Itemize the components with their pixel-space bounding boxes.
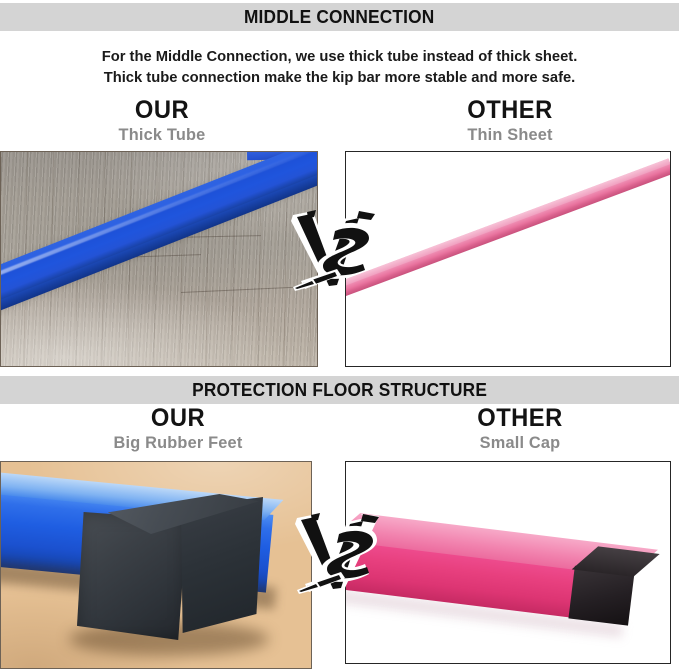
section-title-middle-connection: MIDDLE CONNECTION	[244, 7, 434, 28]
pink-thin-bar-1	[345, 158, 671, 299]
section-header-band-protection-floor: PROTECTION FLOOR STRUCTURE	[0, 376, 679, 404]
intro-paragraph-middle-connection: For the Middle Connection, we use thick …	[10, 46, 669, 88]
photo-our-thick-tube	[0, 151, 318, 367]
vs-badge-icon-1	[283, 209, 379, 293]
caption-sub-thin-sheet: Thin Sheet	[366, 124, 654, 146]
photo-our-big-rubber-feet	[0, 461, 312, 669]
caption-our-thick-tube: OUR Thick Tube	[12, 96, 312, 146]
caption-sub-small-cap: Small Cap	[376, 432, 664, 454]
caption-other-small-cap: OTHER Small Cap	[370, 404, 670, 454]
caption-other-thin-sheet: OTHER Thin Sheet	[360, 96, 660, 146]
pink-bar-2	[345, 514, 644, 623]
section-header-band-middle-connection: MIDDLE CONNECTION	[0, 3, 679, 31]
caption-heading-other-2: OTHER	[378, 404, 663, 432]
section-title-protection-floor: PROTECTION FLOOR STRUCTURE	[192, 380, 487, 401]
caption-sub-thick-tube: Thick Tube	[18, 124, 306, 146]
caption-heading-our-2: OUR	[36, 404, 321, 432]
caption-heading-our-1: OUR	[20, 96, 305, 124]
vs-badge-icon-2	[287, 512, 383, 596]
photo-other-small-cap	[345, 461, 671, 664]
photo-other-thin-sheet	[345, 151, 671, 367]
caption-our-big-rubber-feet: OUR Big Rubber Feet	[28, 404, 328, 454]
caption-sub-big-rubber-feet: Big Rubber Feet	[34, 432, 322, 454]
black-rubber-foot	[77, 494, 252, 644]
intro-line-2: Thick tube connection make the kip bar m…	[10, 67, 669, 88]
caption-heading-other-1: OTHER	[368, 96, 653, 124]
intro-line-1: For the Middle Connection, we use thick …	[10, 46, 669, 67]
